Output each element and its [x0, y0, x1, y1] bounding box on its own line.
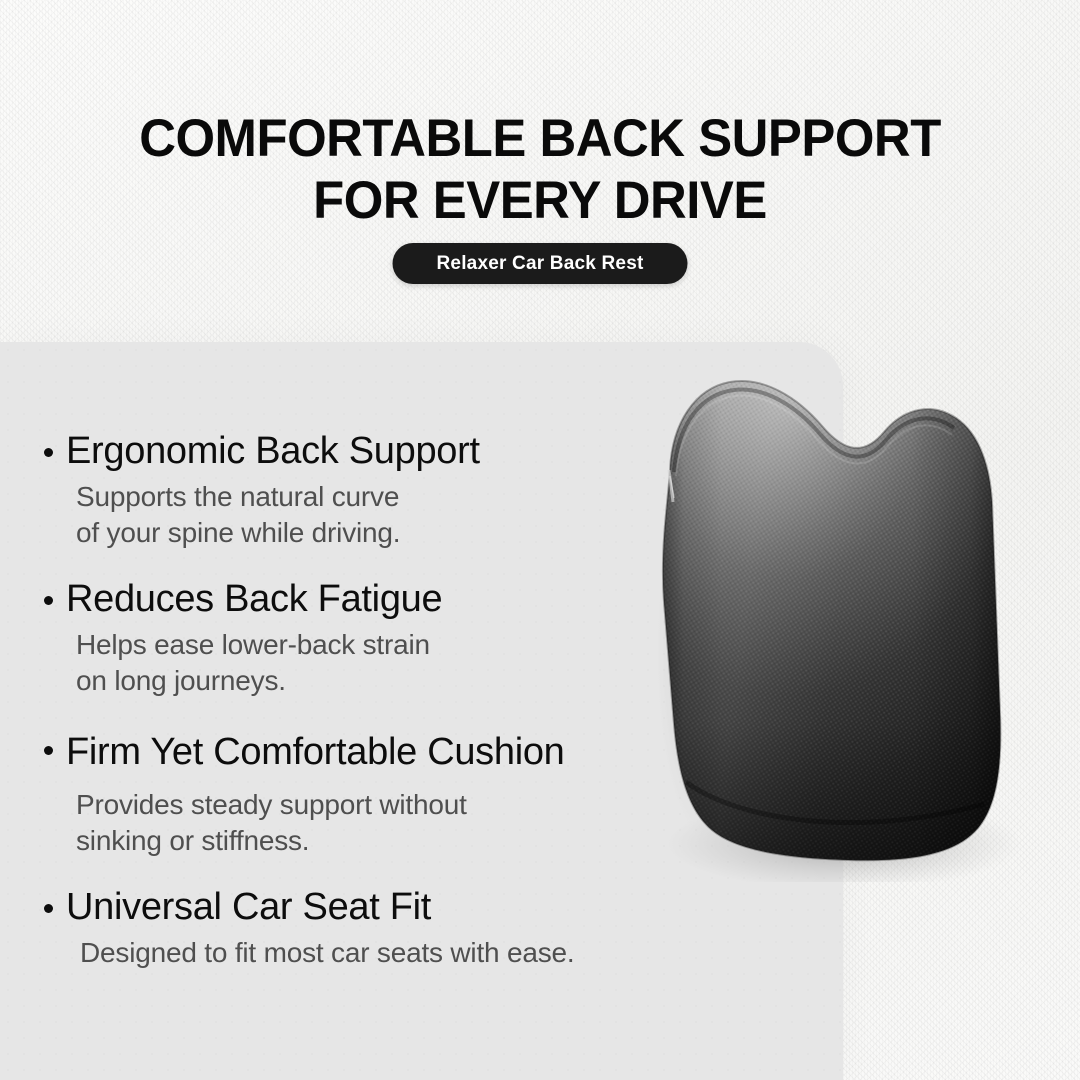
- feature-description: Provides steady support without sinking …: [76, 787, 704, 859]
- feature-description-line-1: Supports the natural curve: [76, 479, 704, 515]
- feature-description-line-1: Helps ease lower-back strain: [76, 627, 704, 663]
- feature-title: Ergonomic Back Support: [44, 425, 704, 477]
- feature-description-line-2: sinking or stiffness.: [76, 823, 704, 859]
- feature-title: Universal Car Seat Fit: [44, 881, 704, 933]
- feature-description-line-1: Provides steady support without: [76, 787, 704, 823]
- product-feature-poster: COMFORTABLE BACK SUPPORT FOR EVERY DRIVE…: [0, 0, 1080, 1080]
- feature-title-text: Reduces Back Fatigue: [66, 573, 704, 625]
- feature-item-reduces-back-fatigue: Reduces Back Fatigue Helps ease lower-ba…: [44, 573, 704, 699]
- feature-title-text: Universal Car Seat Fit: [66, 881, 704, 933]
- page-title: COMFORTABLE BACK SUPPORT FOR EVERY DRIVE: [22, 108, 1059, 232]
- bullet-dot-icon: [44, 746, 53, 755]
- feature-title-line-2: Cushion: [427, 731, 564, 773]
- feature-description-line-2: of your spine while driving.: [76, 515, 704, 551]
- feature-item-universal-car-seat-fit: Universal Car Seat Fit Designed to fit m…: [44, 881, 704, 971]
- product-name-badge-label: Relaxer Car Back Rest: [437, 253, 644, 275]
- bullet-dot-icon: [44, 448, 53, 457]
- product-name-badge: Relaxer Car Back Rest: [393, 243, 688, 284]
- feature-item-firm-yet-comfortable-cushion: Firm Yet Comfortable Cushion Provides st…: [44, 723, 704, 859]
- feature-description-line-2: on long journeys.: [76, 663, 704, 699]
- headline-line-2: FOR EVERY DRIVE: [22, 170, 1059, 232]
- feature-description: Helps ease lower-back strain on long jou…: [76, 627, 704, 699]
- feature-description-line-1: Designed to fit most car seats with ease…: [80, 935, 704, 971]
- feature-title-text: Ergonomic Back Support: [66, 425, 704, 477]
- bullet-dot-icon: [44, 596, 53, 605]
- feature-title: Firm Yet Comfortable Cushion: [44, 723, 704, 781]
- feature-description: Designed to fit most car seats with ease…: [80, 935, 704, 971]
- feature-list: Ergonomic Back Support Supports the natu…: [44, 425, 704, 991]
- feature-title-line-1: Firm Yet Comfortable: [66, 731, 417, 773]
- bullet-dot-icon: [44, 904, 53, 913]
- feature-description: Supports the natural curve of your spine…: [76, 479, 704, 551]
- feature-title: Reduces Back Fatigue: [44, 573, 704, 625]
- feature-item-ergonomic-back-support: Ergonomic Back Support Supports the natu…: [44, 425, 704, 551]
- feature-title-text: Firm Yet Comfortable Cushion: [66, 723, 704, 781]
- headline-line-1: COMFORTABLE BACK SUPPORT: [22, 108, 1059, 170]
